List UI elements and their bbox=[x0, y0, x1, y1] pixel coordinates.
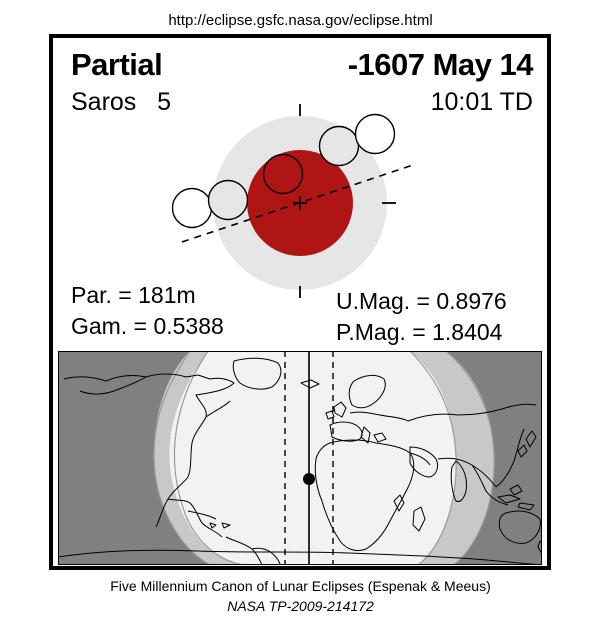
moon-position-p4 bbox=[356, 115, 395, 154]
world-map-svg bbox=[58, 351, 542, 565]
gamma-value: Gam. = 0.5388 bbox=[71, 313, 224, 340]
penumbral-duration-value: Par. = 181m bbox=[71, 282, 196, 309]
footer-publication-id: NASA TP-2009-214172 bbox=[0, 598, 601, 614]
moon-position-u4 bbox=[320, 127, 359, 166]
penumbral-magnitude-value: P.Mag. = 1.8404 bbox=[336, 319, 502, 346]
eclipse-panel: Partial -1607 May 14 Saros 5 10:01 TD Pa… bbox=[49, 34, 551, 570]
umbral-magnitude-value: U.Mag. = 0.8976 bbox=[336, 288, 507, 315]
moon-position-p1 bbox=[173, 189, 212, 228]
footer-source-line: Five Millennium Canon of Lunar Eclipses … bbox=[0, 578, 601, 594]
url-header: http://eclipse.gsfc.nasa.gov/eclipse.htm… bbox=[0, 12, 601, 29]
zenith-point-marker bbox=[303, 473, 315, 485]
moon-position-u1 bbox=[209, 181, 248, 220]
world-visibility-map bbox=[58, 351, 542, 565]
